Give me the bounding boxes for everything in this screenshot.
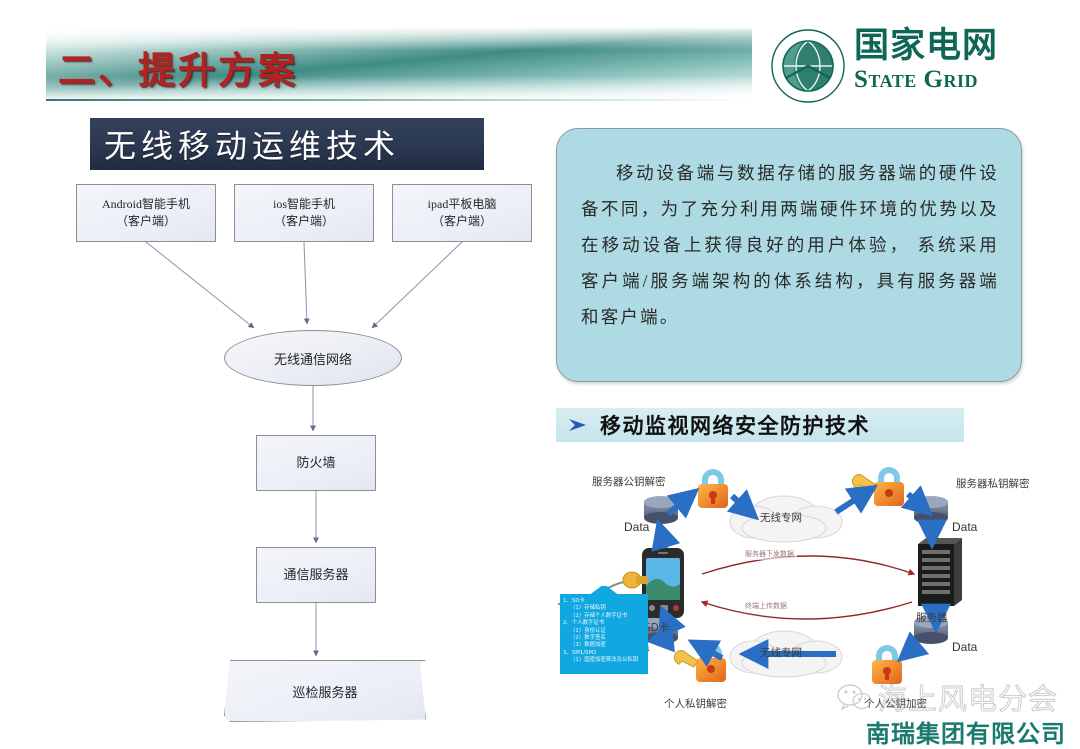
label-data-3: Data (952, 520, 977, 534)
note-panel-list: 1、SD卡 （1）存储私钥 （2）存储个人数字证书 2、个人数字证书 （1）身份… (563, 598, 645, 665)
node-firewall-label: 防火墙 (296, 454, 335, 473)
header-rule (46, 99, 752, 101)
logo-name-cn: 国家电网 (854, 26, 1054, 66)
note-line: （1）存储私钥 (563, 605, 645, 612)
mobile-device-icon (642, 548, 684, 618)
label-data-4: Data (952, 640, 977, 654)
logo-wordmark: 国家电网 State Grid (854, 26, 1054, 93)
label-wireless-net-bottom: 无线专网 (760, 645, 802, 660)
description-text: 移动设备端与数据存储的服务器端的硬件设备不同，为了充分利用两端硬件环境的优势以及… (581, 155, 999, 335)
wireless-ops-flowchart: 无线移动运维技术 Android智能手机 （客户端） ios智能手机 (76, 112, 546, 742)
node-comm-server-label: 通信服务器 (283, 566, 348, 585)
watermark: 海上风电分会 (836, 676, 1066, 718)
note-line: （1）身份认证 (563, 628, 645, 635)
client-ipad-line2: （客户端） (432, 213, 492, 230)
slide-root: 二、提升方案 国家电网 State Grid 无线移动运维技术 (0, 0, 1080, 748)
label-data-1: Data (624, 520, 649, 534)
label-server-pub-decrypt: 服务器公钥解密 (592, 474, 666, 489)
client-ios-line1: ios智能手机 (273, 196, 335, 213)
label-personal-priv-decrypt: 个人私钥解密 (664, 696, 727, 711)
client-ipad-line1: ipad平板电脑 (428, 196, 497, 213)
watermark-text: 海上风电分会 (878, 676, 1058, 718)
description-card: 移动设备端与数据存储的服务器端的硬件设备不同，为了充分利用两端硬件环境的优势以及… (556, 128, 1022, 382)
label-server-priv-decrypt: 服务器私钥解密 (956, 476, 1030, 491)
page-title: 二、提升方案 (58, 40, 298, 94)
label-server: 服务器 (916, 610, 948, 625)
client-box-ipad[interactable]: ipad平板电脑 （客户端） (392, 184, 532, 242)
client-ios-line2: （客户端） (274, 213, 334, 230)
logo-name-en: State Grid (854, 66, 1054, 93)
note-line: 2、个人数字证书 (563, 620, 645, 627)
chevron-right-icon (568, 418, 588, 432)
note-line: （1）国密加密算法及公私钥 (563, 657, 645, 664)
node-comm-server[interactable]: 通信服务器 (256, 547, 376, 603)
security-section-heading: 移动监视网络安全防护技术 (556, 408, 964, 442)
client-android-line2: （客户端） (116, 213, 176, 230)
state-grid-logo: 国家电网 State Grid (770, 24, 1055, 104)
note-line: （3）数据加密 (563, 642, 645, 649)
client-android-line1: Android智能手机 (102, 196, 190, 213)
label-flow-down: 服务器下发数据 (742, 548, 797, 560)
server-icon (918, 538, 962, 606)
security-heading-label: 移动监视网络安全防护技术 (600, 410, 870, 440)
sd-card-note-panel: 1、SD卡 （1）存储私钥 （2）存储个人数字证书 2、个人数字证书 （1）身份… (560, 594, 648, 674)
state-grid-globe-icon (770, 28, 846, 104)
client-box-ios[interactable]: ios智能手机 （客户端） (234, 184, 374, 242)
node-firewall[interactable]: 防火墙 (256, 435, 376, 491)
company-footer: 南瑞集团有限公司 (866, 714, 1066, 749)
node-wireless-network[interactable]: 无线通信网络 (224, 330, 402, 386)
node-inspect-server[interactable]: 巡检服务器 (224, 660, 426, 722)
red-roundtrip-arrows (702, 556, 914, 619)
client-box-android[interactable]: Android智能手机 （客户端） (76, 184, 216, 242)
label-wireless-net-top: 无线专网 (760, 510, 802, 525)
label-flow-up: 终端上传数据 (742, 600, 790, 612)
wechat-icon (836, 682, 874, 712)
